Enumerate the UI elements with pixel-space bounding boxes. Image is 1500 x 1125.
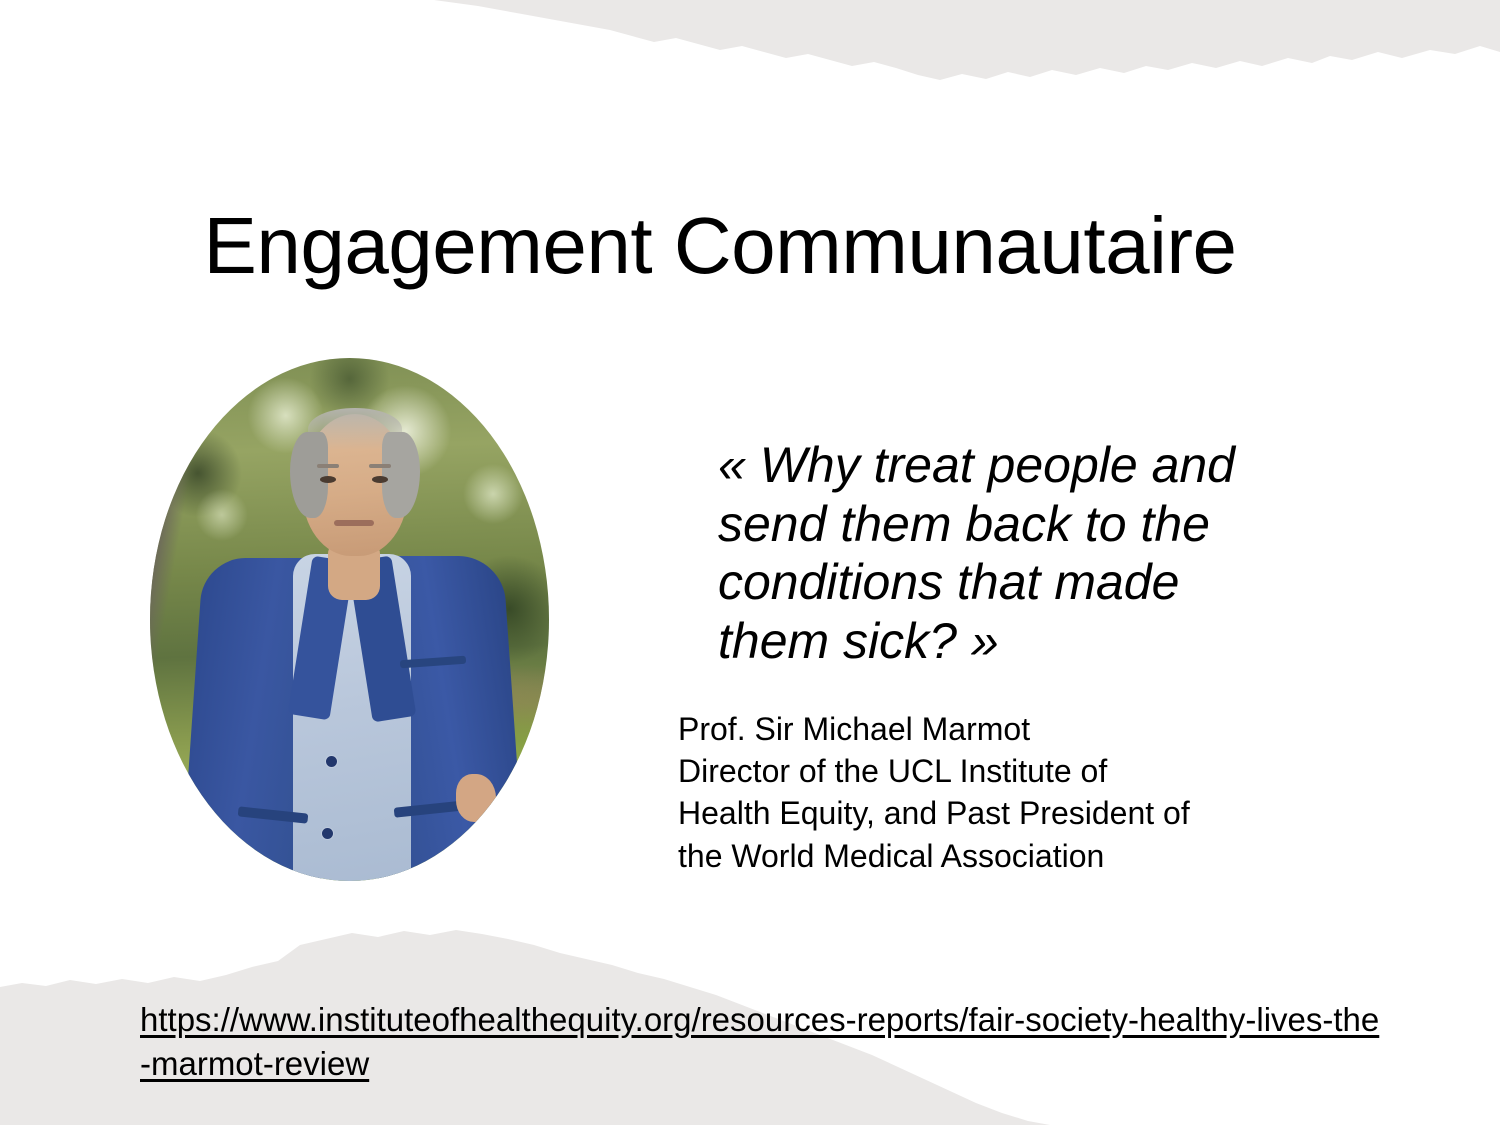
source-url-link[interactable]: https://www.instituteofhealthequity.org/… (140, 998, 1390, 1086)
hair-left (290, 432, 328, 518)
eyebrow-right (369, 464, 391, 468)
quote-attribution: Prof. Sir Michael Marmot Director of the… (678, 708, 1278, 877)
eyebrow-left (317, 464, 339, 468)
attribution-line-role-2: Health Equity, and Past President of (678, 792, 1278, 834)
eye-left (320, 476, 336, 483)
attribution-line-name: Prof. Sir Michael Marmot (678, 708, 1278, 750)
attribution-line-role-3: the World Medical Association (678, 835, 1278, 877)
slide-canvas: Engagement Communautaire (0, 0, 1500, 1125)
mouth (334, 520, 374, 526)
page-title: Engagement Communautaire (0, 206, 1440, 286)
hand-right (456, 774, 496, 822)
hair-right (382, 432, 420, 518)
portrait-photo-marmot (150, 358, 549, 881)
jacket-button-upper (326, 756, 337, 767)
attribution-line-role-1: Director of the UCL Institute of (678, 750, 1278, 792)
pull-quote: « Why treat people and send them back to… (718, 436, 1298, 670)
torn-paper-top-decoration (0, 0, 1500, 130)
jacket-button-lower (322, 828, 333, 839)
eye-right (372, 476, 388, 483)
portrait-person-figure (150, 358, 549, 881)
